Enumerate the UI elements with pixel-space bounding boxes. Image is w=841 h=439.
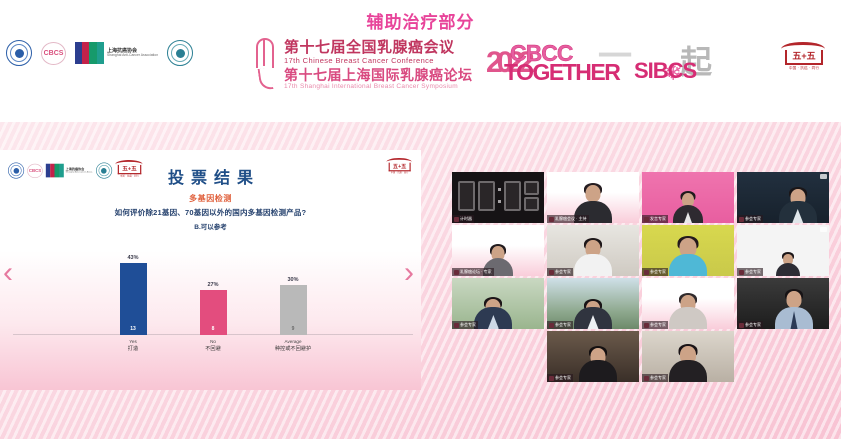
- tile-name-label: 参会专家: [737, 321, 763, 329]
- tile-name-label: 乳腺癌会议 · 主持: [547, 215, 589, 223]
- conference-name-cn: 第十七届全国乳腺癌会议: [284, 40, 473, 55]
- bar-group-1: 27% 8 No 不回避: [176, 250, 250, 335]
- timer-digit-3: [504, 181, 521, 211]
- tile-badge-icon: [535, 227, 542, 232]
- participant-tile[interactable]: 参会专家: [642, 278, 734, 329]
- bar-labels-1: No 不回避: [176, 335, 250, 354]
- tile-name-label: 参会专家: [642, 321, 668, 329]
- page-header: 辅助治疗部分 CBCS 上海抗癌协会 Shanghai Anti-Cancer …: [0, 0, 841, 122]
- participant-avatar: [575, 301, 611, 329]
- bar-percent-2: 30%: [287, 277, 298, 283]
- saca-logo-line2: Shanghai Anti-Cancer Association: [107, 54, 158, 58]
- slide-title: 投票结果: [0, 164, 421, 188]
- tile-name-label: 计时器: [452, 215, 474, 223]
- participant-tile[interactable]: 参会专家: [452, 278, 544, 329]
- bar-label-cn-0: 打造: [96, 346, 170, 354]
- symposium-name-cn: 第十七届上海国际乳腺癌论坛: [284, 68, 473, 82]
- fudan-university-seal-icon: [167, 40, 193, 66]
- participant-tile[interactable]: 参会专家: [642, 331, 734, 382]
- participant-tile[interactable]: 参会专家: [547, 225, 639, 276]
- sibcs-wordmark: SIBCS: [634, 60, 696, 82]
- slide-prev-arrow-icon[interactable]: ‹: [3, 258, 13, 288]
- participant-tile[interactable]: 乳腺癌会议 · 主持: [547, 172, 639, 223]
- participant-avatar: [670, 346, 706, 382]
- participant-tile[interactable]: 发言专家: [642, 172, 734, 223]
- tile-name-label: 参会专家: [642, 268, 668, 276]
- participant-avatar: [780, 189, 816, 223]
- tile-badge-icon: [630, 174, 637, 179]
- poll-question: 如何评价除21基因、70基因以外的国内多基因检测产品?: [0, 207, 421, 218]
- timer-digit-1: [458, 181, 475, 211]
- symposium-name-en: 17th Shanghai International Breast Cance…: [284, 84, 473, 91]
- cbcs-ring-logo-icon: CBCS: [41, 42, 66, 65]
- bar-0: 13: [120, 263, 147, 335]
- header-gate-logo-icon: 五+五 中国 · 抗癌 · 同行: [781, 42, 827, 76]
- participant-tile[interactable]: 参会专家: [737, 225, 829, 276]
- shanghai-anti-cancer-association-logo-icon: 上海抗癌协会 Shanghai Anti-Cancer Association: [75, 42, 158, 64]
- tile-name-label: 参会专家: [547, 374, 573, 382]
- bar-label-en-2: Average: [256, 339, 330, 346]
- breast-cancer-ribbon-icon: [252, 36, 278, 94]
- bar-count-2: 9: [292, 326, 295, 332]
- tile-badge-icon: [820, 227, 827, 232]
- tile-name-label: 参会专家: [737, 268, 763, 276]
- participant-tile[interactable]: 乳腺癌论坛 · 专家: [452, 225, 544, 276]
- bar-label-cn-2: 种控或不回避护: [256, 346, 330, 354]
- tile-name-label: 参会专家: [547, 268, 573, 276]
- participant-avatar: [773, 291, 815, 329]
- bar-percent-1: 27%: [207, 282, 218, 288]
- bar-percent-0: 43%: [127, 255, 138, 261]
- bar-label-cn-1: 不回避: [176, 346, 250, 354]
- participant-avatar: [671, 193, 705, 223]
- timer-colon-icon: [498, 181, 501, 211]
- bar-group-0: 43% 13 Yes 打造: [96, 250, 170, 335]
- participant-tile[interactable]: 参会专家: [547, 331, 639, 382]
- poll-results-bar-chart: 43% 13 Yes 打造 27% 8 No 不回避 30% 9: [58, 250, 363, 335]
- tile-name-label: 发言专家: [642, 215, 668, 223]
- organizer-logo-row: CBCS 上海抗癌协会 Shanghai Anti-Cancer Associa…: [6, 40, 193, 66]
- bar-count-1: 8: [212, 326, 215, 332]
- bar-group-2: 30% 9 Average 种控或不回避护: [256, 250, 330, 335]
- poll-answer: B.可以参考: [0, 221, 421, 231]
- tile-name-label: 参会专家: [737, 215, 763, 223]
- participant-video-grid: 计时器 乳腺癌会议 · 主持 发言专家 参会专家: [452, 172, 839, 390]
- tile-badge-icon: [725, 280, 732, 285]
- chinese-medical-association-seal-icon: [6, 40, 32, 66]
- together-campaign-wordmark: 一 起 2022 CBCC TOGETHER ❄ SIBCS: [486, 42, 698, 94]
- participant-avatar: [668, 238, 708, 276]
- conference-wordmark: 第十七届全国乳腺癌会议 17th Chinese Breast Cancer C…: [252, 36, 473, 94]
- participant-avatar: [476, 299, 510, 329]
- session-title: 辅助治疗部分: [0, 8, 841, 33]
- bar-2: 9: [280, 285, 307, 335]
- tile-name-label: 参会专家: [642, 374, 668, 382]
- participant-tile[interactable]: 参会专家: [547, 278, 639, 329]
- participant-tile[interactable]: 参会专家: [737, 172, 829, 223]
- bar-label-en-1: No: [176, 339, 250, 346]
- tile-name-label: 乳腺癌论坛 · 专家: [452, 268, 494, 276]
- bar-labels-0: Yes 打造: [96, 335, 170, 354]
- participant-tile[interactable]: 参会专家: [642, 225, 734, 276]
- bar-count-0: 13: [130, 326, 136, 332]
- together-wordmark: TOGETHER: [504, 61, 619, 84]
- bar-labels-2: Average 种控或不回避护: [256, 335, 330, 354]
- timer-digit-4: [524, 181, 539, 211]
- participant-avatar: [571, 240, 615, 276]
- slide-next-arrow-icon[interactable]: ›: [404, 258, 414, 288]
- participant-avatar: [775, 254, 801, 276]
- presentation-slide: CBCS 上海抗癌协会Shanghai Anti-Cancer Assoc. 五…: [0, 150, 421, 390]
- cbcs-ring-label: CBCS: [44, 50, 64, 57]
- participant-avatar: [666, 295, 710, 329]
- poll-topic: 多基因检测: [0, 193, 421, 204]
- timer-digit-2: [478, 181, 495, 211]
- countdown-timer-tile[interactable]: 计时器: [452, 172, 544, 223]
- bar-label-en-0: Yes: [96, 339, 170, 346]
- gate-logo-mark: 五+五: [785, 50, 823, 65]
- bar-1: 8: [200, 290, 227, 335]
- participant-avatar: [579, 348, 617, 382]
- conference-name-en: 17th Chinese Breast Cancer Conference: [284, 57, 473, 65]
- gate-logo-subtitle: 中国 · 抗癌 · 同行: [781, 66, 827, 71]
- participant-tile[interactable]: 参会专家: [737, 278, 829, 329]
- tile-badge-icon: [820, 174, 827, 179]
- countdown-timer-display: [456, 177, 540, 214]
- tile-name-label: 参会专家: [452, 321, 478, 329]
- tile-name-label: 参会专家: [547, 321, 573, 329]
